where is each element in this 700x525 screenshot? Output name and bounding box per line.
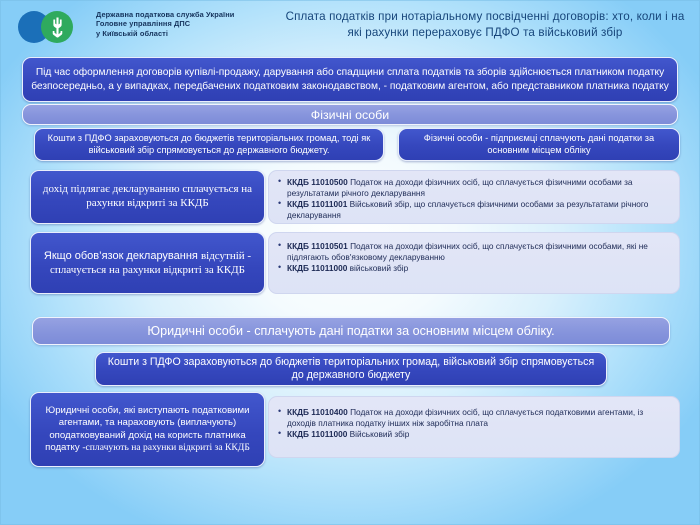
label-declared-income-a: дохід підлягає декларуванню <box>43 183 180 195</box>
header: Державна податкова служба України Головн… <box>0 0 700 52</box>
banner-individuals: Фізичні особи <box>22 104 678 125</box>
code-desc: Військовий збір <box>347 429 409 439</box>
tryzub-icon <box>41 11 73 43</box>
note-pdfo-budget: Кошти з ПДФО зараховуються до бюджетів т… <box>34 128 384 161</box>
code-value: ККДБ 11011000 <box>287 263 347 273</box>
intro-box: Під час оформлення договорів купівлі-про… <box>22 57 678 102</box>
note-pdfo-budget-text: Кошти з ПДФО зараховуються до бюджетів т… <box>42 133 376 156</box>
infographic-poster: Державна податкова служба України Головн… <box>0 0 700 525</box>
org-line-1: Державна податкова служба України <box>96 10 276 19</box>
banner-individuals-label: Фізичні особи <box>311 108 389 122</box>
code-desc: військовий збір <box>347 263 408 273</box>
dps-logo <box>18 11 92 43</box>
list-item: ККДБ 11010400 Податок на доходи фізичних… <box>278 407 670 428</box>
org-line-3: у Київській області <box>96 29 276 38</box>
intro-text: Під час оформлення договорів купівлі-про… <box>31 66 669 93</box>
list-item: ККДБ 11011001 Військовий збір, що сплачу… <box>278 199 670 220</box>
label-tax-agents-text: Юридичні особи, які виступають податкови… <box>38 405 257 454</box>
code-value: ККДБ 11011000 <box>287 429 347 439</box>
note-fop-place-text: Фізичні особи - підприємці сплачують дан… <box>406 133 672 156</box>
code-value: ККДБ 11010501 <box>287 241 348 251</box>
banner-legal-entities: Юридичні особи - сплачують дані податки … <box>32 317 670 345</box>
list-item: ККДБ 11011000 військовий збір <box>278 263 670 274</box>
code-value: ККДБ 11010400 <box>287 407 348 417</box>
codes-list-tax-agents: ККДБ 11010400 Податок на доходи фізичних… <box>268 396 680 458</box>
label-declared-income-text: дохід підлягає декларуванню сплачується … <box>39 183 256 210</box>
list-item: ККДБ 11011000 Військовий збір <box>278 429 670 440</box>
label-no-declaration: Якщо обов’язок декларування відсутній - … <box>30 232 265 294</box>
codes-list-declared: ККДБ 11010500 Податок на доходи фізичних… <box>268 170 680 224</box>
label-tax-agents: Юридичні особи, які виступають податкови… <box>30 392 265 467</box>
label-no-declaration-text: Якщо обов’язок декларування відсутній - … <box>39 249 256 277</box>
org-name: Державна податкова служба України Головн… <box>96 10 276 38</box>
code-value: ККДБ 11011001 <box>287 199 347 209</box>
codes-list-no-declaration: ККДБ 11010501 Податок на доходи фізичних… <box>268 232 680 294</box>
note-legal-budget-text: Кошти з ПДФО зараховуються до бюджетів т… <box>104 356 598 383</box>
list-item: ККДБ 11010500 Податок на доходи фізичних… <box>278 177 670 198</box>
banner-legal-entities-label: Юридичні особи - сплачують дані податки … <box>147 324 554 338</box>
label-tax-agents-b: -сплачують на рахунки відкриті за ККДБ <box>82 442 250 453</box>
org-line-2: Головне управління ДПС <box>96 19 276 28</box>
label-declared-income: дохід підлягає декларуванню сплачується … <box>30 170 265 224</box>
note-fop-place: Фізичні особи - підприємці сплачують дан… <box>398 128 680 161</box>
note-legal-budget: Кошти з ПДФО зараховуються до бюджетів т… <box>95 352 607 386</box>
page-title: Сплата податків при нотаріальному посвід… <box>280 9 690 40</box>
code-value: ККДБ 11010500 <box>287 177 348 187</box>
list-item: ККДБ 11010501 Податок на доходи фізичних… <box>278 241 670 262</box>
label-no-declaration-a: Якщо обов’язок декларування <box>44 250 198 262</box>
